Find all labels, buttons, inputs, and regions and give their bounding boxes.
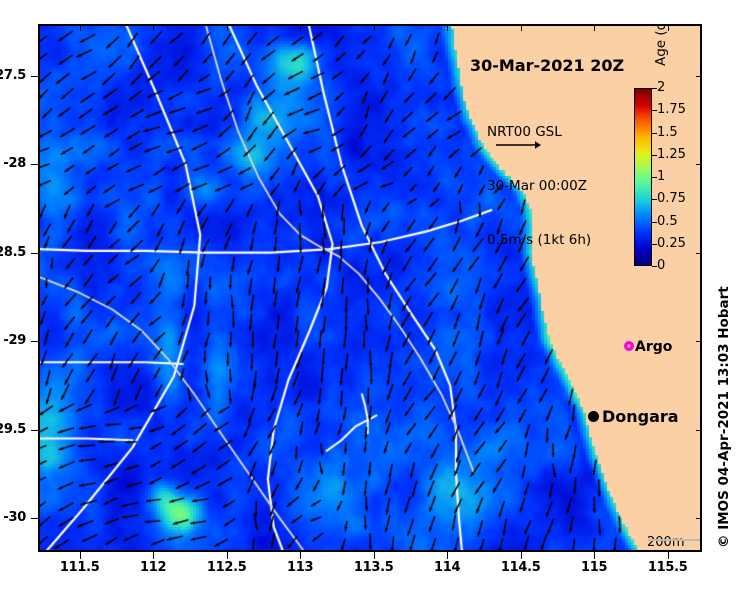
- x-tick-mark: [227, 552, 228, 559]
- x-tick-mark: [447, 552, 448, 559]
- vector-key: NRT00 GSL 30-Mar 00:00Z 0.5m/s (1kt 6h): [487, 87, 591, 285]
- x-tick-mark-top: [447, 25, 448, 31]
- y-tick-mark-right: [696, 430, 702, 431]
- y-tick-mark-right: [696, 253, 702, 254]
- colorbar-tick-label: 2: [657, 83, 665, 93]
- x-tick-mark-top: [594, 25, 595, 31]
- depth-key-rule: [648, 539, 702, 541]
- vector-key-line-2: 30-Mar 00:00Z: [487, 177, 591, 195]
- y-axis-label: -27.5: [0, 68, 26, 83]
- colorbar-tick-label: 0: [657, 261, 665, 271]
- colorbar-tick-label: 1.75: [657, 105, 686, 115]
- depth-key-200m: 200m: [647, 534, 693, 551]
- dongara-city-label: Dongara: [602, 407, 679, 426]
- x-tick-mark-top: [80, 25, 81, 31]
- argo-marker-icon[interactable]: [623, 340, 635, 352]
- colorbar[interactable]: [634, 88, 652, 266]
- y-tick-mark-right: [696, 76, 702, 77]
- right-arrow-icon: [495, 139, 541, 151]
- y-tick-mark-right: [696, 164, 702, 165]
- date-stamp: 30-Mar-2021 20Z: [470, 56, 624, 75]
- colorbar-tick-label: 1: [657, 172, 665, 182]
- x-axis-label: 115: [564, 560, 624, 575]
- map-plot-area[interactable]: 30-Mar-2021 20Z NRT00 GSL 30-Mar 00:00Z …: [38, 24, 702, 552]
- y-tick-mark-right: [696, 518, 702, 519]
- y-axis-label: -29.5: [0, 422, 26, 437]
- y-tick-mark: [31, 341, 38, 342]
- y-tick-mark: [31, 253, 38, 254]
- y-axis-label: -29: [0, 333, 26, 348]
- depth-contour-key: 200m 1000m: [647, 500, 693, 552]
- y-tick-mark: [31, 164, 38, 165]
- colorbar-tick-label: 1.5: [657, 128, 678, 138]
- colorbar-tick-label: 0.75: [657, 194, 686, 204]
- sst-age-heatmap-canvas[interactable]: [40, 26, 700, 550]
- y-tick-mark-right: [696, 341, 702, 342]
- colorbar-tick-label: 1.25: [657, 150, 686, 160]
- y-tick-mark: [31, 518, 38, 519]
- x-tick-mark: [668, 552, 669, 559]
- y-axis-label: -28.5: [0, 245, 26, 260]
- x-axis-label: 114: [417, 560, 477, 575]
- colorbar-tick-label: 0.25: [657, 239, 686, 249]
- x-axis-label: 112: [123, 560, 183, 575]
- argo-legend-label: Argo: [635, 339, 672, 355]
- x-tick-mark: [594, 552, 595, 559]
- x-tick-mark-top: [668, 25, 669, 31]
- x-tick-mark: [521, 552, 522, 559]
- dongara-city-marker[interactable]: [588, 411, 599, 422]
- x-tick-mark-top: [521, 25, 522, 31]
- vector-key-line-3: 0.5m/s (1kt 6h): [487, 231, 591, 249]
- x-tick-mark: [374, 552, 375, 559]
- x-axis-label: 115.5: [638, 560, 698, 575]
- x-axis-label: 111.5: [50, 560, 110, 575]
- x-tick-mark-top: [227, 25, 228, 31]
- y-axis-label: -30: [0, 510, 26, 525]
- x-axis-label: 114.5: [491, 560, 551, 575]
- colorbar-tick-label: 0.5: [657, 217, 678, 227]
- y-tick-mark: [31, 76, 38, 77]
- y-axis-label: -28: [0, 156, 26, 171]
- x-tick-mark: [153, 552, 154, 559]
- y-tick-mark: [31, 430, 38, 431]
- colorbar-title: Age (days) of filled SST (wrt latest): [653, 24, 669, 66]
- x-axis-label: 113: [270, 560, 330, 575]
- x-tick-mark: [80, 552, 81, 559]
- x-axis-label: 113.5: [344, 560, 404, 575]
- x-axis-label: 112.5: [197, 560, 257, 575]
- x-tick-mark-top: [153, 25, 154, 31]
- credit-text: © IMOS 04-Apr-2021 13:03 Hobart: [716, 286, 732, 548]
- x-tick-mark-top: [300, 25, 301, 31]
- sst-age-map-figure: 30-Mar-2021 20Z NRT00 GSL 30-Mar 00:00Z …: [0, 0, 739, 592]
- colorbar-gradient: [635, 89, 651, 265]
- x-tick-mark-top: [374, 25, 375, 31]
- x-tick-mark: [300, 552, 301, 559]
